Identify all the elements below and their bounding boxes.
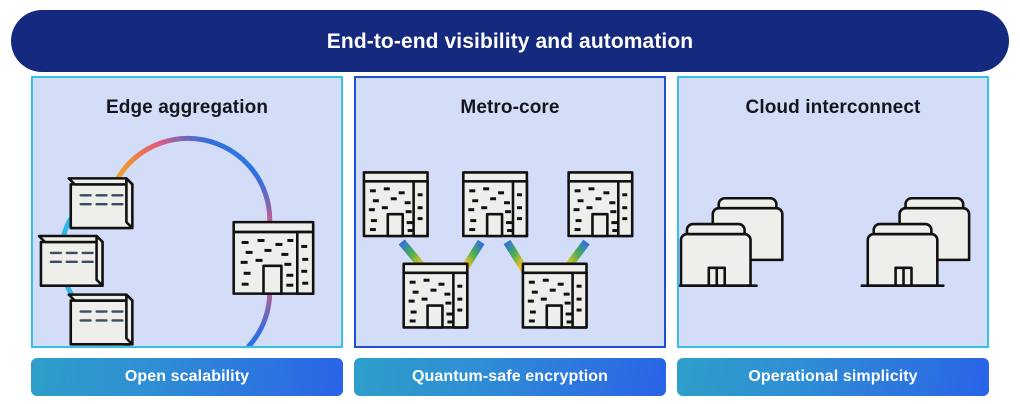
node-core-node-1[interactable] [364,172,428,236]
node-dc-west-b[interactable] [679,224,756,286]
node-core-node-2[interactable] [463,172,527,236]
panel-metro-core[interactable]: Metro-core [354,76,666,348]
panel-edge-aggregation[interactable]: Edge aggregation [31,76,343,348]
footer-label-quantum-safe-encryption[interactable]: Quantum-safe encryption [354,358,666,396]
node-edge-site-2[interactable] [39,236,103,286]
panel-title-cloud-interconnect: Cloud interconnect [679,97,987,119]
panel-title-metro-core: Metro-core [356,97,664,119]
node-aggregation-hub[interactable] [234,222,313,294]
footer-label-open-scalability[interactable]: Open scalability [31,358,343,396]
panel-title-edge-aggregation: Edge aggregation [33,97,341,119]
footer-label-operational-simplicity[interactable]: Operational simplicity [677,358,989,396]
topology-diagram-mesh [356,132,664,346]
header-banner: End-to-end visibility and automation [11,10,1009,72]
ring-topology-svg [33,132,341,346]
node-core-node-4[interactable] [404,264,468,328]
panel-cloud-interconnect[interactable]: Cloud interconnect [677,76,989,348]
node-edge-site-3[interactable] [69,295,133,345]
node-core-node-5[interactable] [523,264,587,328]
page-title: End-to-end visibility and automation [327,31,693,52]
panels-row: Edge aggregation [31,76,989,348]
node-edge-site-1[interactable] [69,178,133,228]
node-dc-east-b[interactable] [862,224,943,286]
mesh-topology-svg [356,132,664,346]
footer-labels-row: Open scalability Quantum-safe encryption… [31,358,989,396]
node-core-node-3[interactable] [569,172,633,236]
topology-diagram-ring [33,132,341,346]
interconnect-topology-svg [679,132,987,346]
topology-diagram-interconnect [679,132,987,346]
